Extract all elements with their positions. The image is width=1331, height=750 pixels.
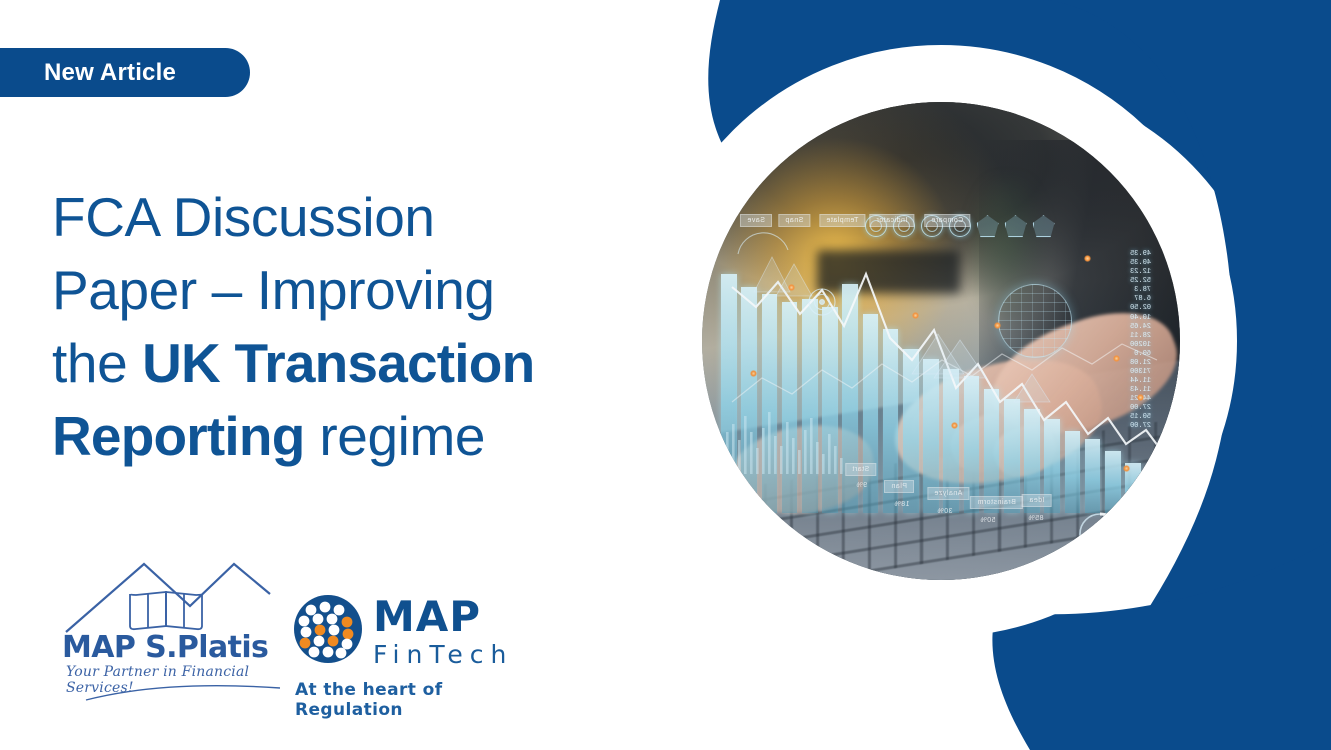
fintech-wordmark-top: MAP — [373, 596, 513, 638]
map-splatis-logo[interactable]: MAP S.Platis Your Partner in Financial S… — [62, 556, 277, 706]
page-title: FCA Discussion Paper – Improving the UK … — [52, 181, 692, 473]
logo-lockup: MAP S.Platis Your Partner in Financial S… — [48, 556, 568, 716]
headline-line-1: FCA Discussion — [52, 186, 435, 248]
splatis-mark — [62, 556, 277, 634]
fintech-tagline: At the heart of Regulation — [295, 680, 553, 720]
fintech-dot-circle-icon — [293, 594, 363, 664]
blue-nub-right — [1300, 330, 1331, 470]
map-fintech-logo[interactable]: MAP FinTech At the heart of Regulation — [293, 594, 553, 709]
splatis-wordmark: MAP S.Platis — [62, 630, 268, 665]
poster-canvas: Save Snap Template Indicator Compare Sta… — [0, 0, 1331, 750]
fintech-wordmark: MAP FinTech — [373, 596, 513, 670]
photo-color-veil — [702, 102, 1180, 580]
fintech-wordmark-bottom: FinTech — [373, 640, 513, 670]
headline-line-3-prefix: the — [52, 332, 142, 394]
zigzag-line — [66, 564, 270, 632]
splatis-swoosh — [84, 684, 284, 702]
new-article-label: New Article — [44, 59, 176, 87]
headline-line-4-strong: Reporting — [52, 405, 305, 467]
headline-line-2: Paper – Improving — [52, 259, 495, 321]
headline-line-3-strong: UK Transaction — [142, 332, 534, 394]
hero-photo: Save Snap Template Indicator Compare Sta… — [702, 102, 1180, 580]
headline-line-4-suffix: regime — [305, 405, 486, 467]
open-book-icon — [130, 592, 202, 629]
new-article-badge[interactable]: New Article — [0, 48, 250, 97]
